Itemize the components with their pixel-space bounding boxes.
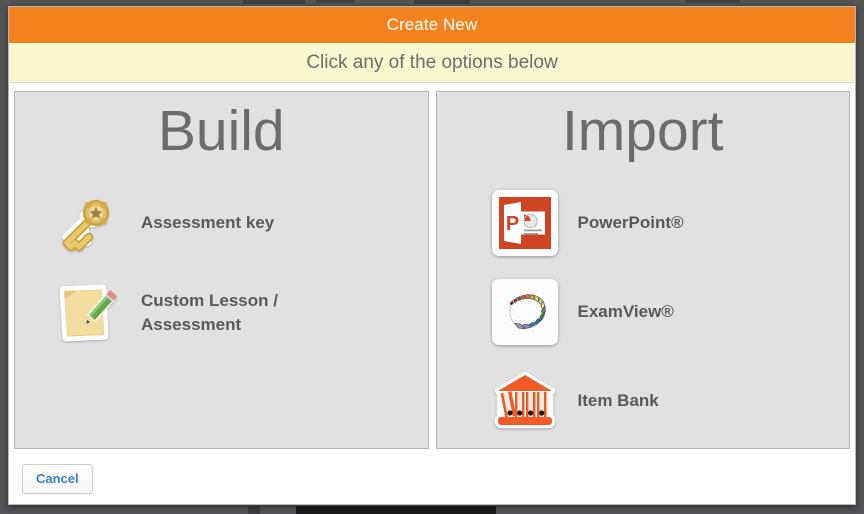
- option-label: Item Bank: [578, 389, 659, 413]
- backdrop-artifact: [316, 0, 354, 3]
- examview-tile: [492, 279, 558, 345]
- dialog-instruction: Click any of the options below: [9, 43, 855, 83]
- panel-import: Import: [436, 91, 851, 449]
- examview-icon: [492, 279, 558, 345]
- option-label: Custom Lesson / Assessment: [141, 289, 351, 337]
- dialog-title: Create New: [9, 7, 855, 43]
- option-custom-lesson-assessment[interactable]: Custom Lesson / Assessment: [53, 268, 428, 358]
- key-icon: [53, 190, 119, 256]
- powerpoint-tile: P: [492, 190, 558, 256]
- svg-text:P: P: [505, 213, 518, 235]
- backdrop-artifact: [296, 506, 496, 514]
- option-label: ExamView®: [578, 300, 674, 324]
- option-powerpoint[interactable]: P PowerPoint®: [492, 178, 850, 267]
- backdrop-artifact: [686, 0, 740, 3]
- create-new-dialog: Create New Click any of the options belo…: [8, 6, 856, 505]
- option-assessment-key[interactable]: Assessment key: [53, 178, 428, 268]
- backdrop-artifact: [248, 506, 260, 514]
- backdrop-artifact: [414, 0, 470, 4]
- option-examview[interactable]: ExamView®: [492, 267, 850, 356]
- powerpoint-icon: P: [492, 190, 558, 256]
- option-columns: Build: [14, 91, 850, 449]
- option-label: Assessment key: [141, 211, 274, 235]
- dialog-footer: Cancel: [9, 455, 855, 504]
- panel-build: Build: [14, 91, 429, 449]
- note-pencil-icon: [53, 280, 119, 346]
- item-bank-icon: [492, 368, 558, 434]
- option-item-bank[interactable]: Item Bank: [492, 356, 850, 445]
- cancel-button[interactable]: Cancel: [22, 464, 93, 494]
- build-option-list: Assessment key: [15, 178, 428, 358]
- panel-build-heading: Build: [15, 98, 428, 164]
- option-label: PowerPoint®: [578, 211, 684, 235]
- panel-import-heading: Import: [437, 98, 850, 164]
- backdrop-artifact: [243, 0, 305, 4]
- import-option-list: P PowerPoint®: [437, 178, 850, 445]
- dialog-body: Build: [9, 83, 855, 455]
